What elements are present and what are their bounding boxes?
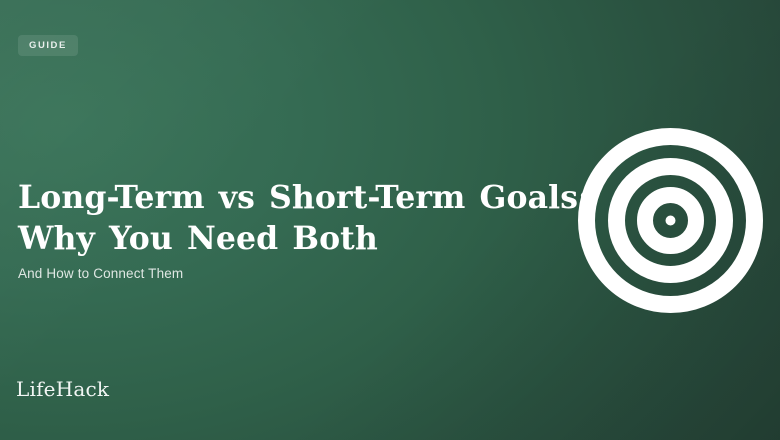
page-title-line-1: Long-Term vs Short-Term Goals:: [18, 177, 558, 218]
bullseye-center-dot: [666, 216, 676, 226]
lifehack-logo: LifeHack: [16, 379, 109, 399]
guide-badge: GUIDE: [18, 35, 78, 56]
bullseye-target-icon: [578, 128, 763, 313]
guide-badge-label: GUIDE: [29, 41, 67, 51]
page-subtitle: And How to Connect Them: [18, 265, 183, 283]
page-title-line-2: Why You Need Both: [18, 218, 558, 259]
guide-card: GUIDE Long-Term vs Short-Term Goals: Why…: [0, 0, 780, 440]
page-title: Long-Term vs Short-Term Goals: Why You N…: [18, 177, 558, 259]
